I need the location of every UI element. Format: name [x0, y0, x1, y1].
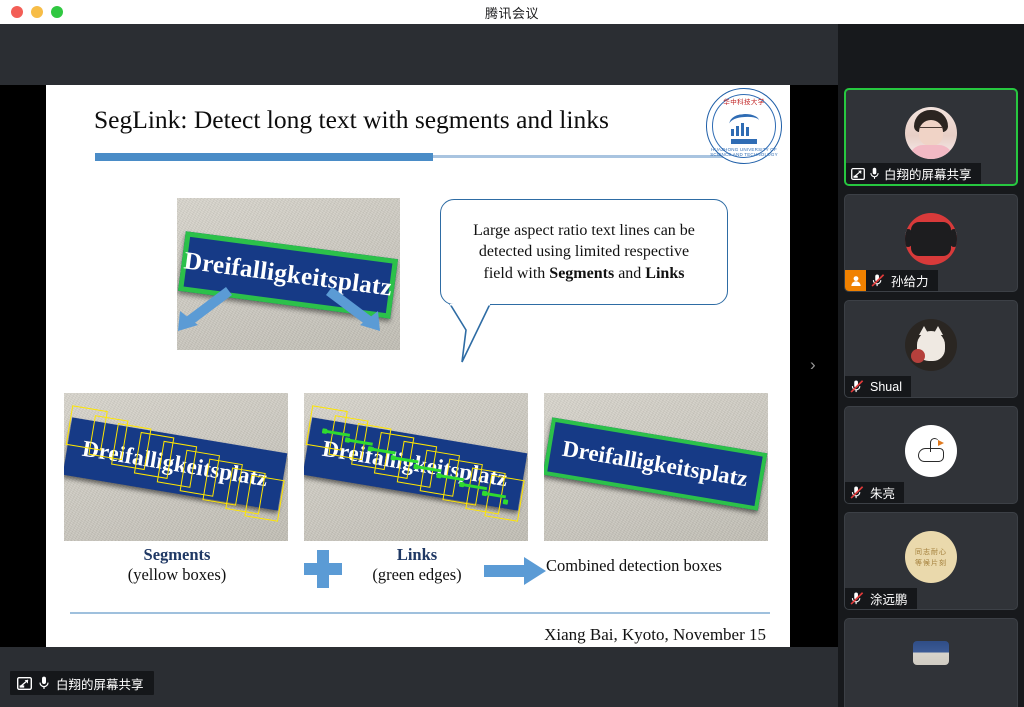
slide-footer-note: Xiang Bai, Kyoto, November 15: [544, 625, 766, 645]
street-sign-links: Dreifalligkeitsplatz: [304, 417, 527, 510]
participant-tile-2[interactable]: Shual: [844, 300, 1018, 398]
avatar: [905, 425, 957, 477]
footer-divider: [70, 612, 770, 614]
participant-name: 朱亮: [870, 483, 895, 502]
participant-tile-4[interactable]: 同志耐心等候片刻 涂远鹏: [844, 512, 1018, 610]
callout-line-3-mid: and: [614, 265, 645, 282]
participant-tile-0[interactable]: 白翔的屏幕共享: [844, 88, 1018, 186]
participant-name-bar: 涂远鹏: [845, 588, 917, 609]
logo-en-text: HUAZHONG UNIVERSITY OF SCIENCE AND TECHN…: [707, 147, 781, 157]
participant-name-bar: Shual: [845, 376, 911, 397]
arrow-down-right-icon: [324, 285, 384, 333]
callout-line-1: Large aspect ratio text lines can be: [473, 222, 695, 239]
participant-name-bar: 朱亮: [845, 482, 904, 503]
microphone-muted-icon: [871, 274, 886, 287]
label-segments-sub: (yellow boxes): [92, 565, 262, 585]
photo-segments: Dreifalligkeitsplatz: [64, 393, 288, 541]
participant-sidebar: › 白翔的屏幕共享: [838, 24, 1024, 707]
microphone-muted-icon: [850, 380, 865, 393]
label-combined: Combined detection boxes: [546, 556, 782, 576]
avatar: 同志耐心等候片刻: [905, 531, 957, 583]
label-links-title: Links: [332, 545, 502, 565]
callout-tail-icon: [444, 304, 554, 366]
callout-bold-segments: Segments: [549, 265, 614, 282]
callout-bold-links: Links: [645, 265, 684, 282]
hust-logo-icon: 华中科技大学 HUAZHONG UNIVERSITY OF SCIENCE AN…: [706, 88, 782, 164]
participant-name-bar: 孙给力: [845, 270, 938, 291]
photo-links: Dreifalligkeitsplatz: [304, 393, 528, 541]
avatar: [905, 107, 957, 159]
host-icon: [845, 270, 866, 291]
presentation-slide: SegLink: Detect long text with segments …: [46, 85, 790, 647]
street-sign-segments: Dreifalligkeitsplatz: [64, 417, 287, 510]
participant-tile-1[interactable]: 孙给力: [844, 194, 1018, 292]
label-segments-title: Segments: [92, 545, 262, 565]
callout-line-2: detected using limited respective: [479, 243, 689, 260]
callout-box: Large aspect ratio text lines can be det…: [440, 199, 728, 305]
screen-share-icon: [851, 168, 865, 180]
microphone-icon: [870, 167, 879, 180]
screen-share-status-badge: 白翔的屏幕共享: [10, 671, 154, 695]
stage-top-band: [0, 24, 838, 85]
slide-title: SegLink: Detect long text with segments …: [94, 105, 704, 135]
street-sign-combined: Dreifalligkeitsplatz: [544, 417, 767, 510]
participant-name: 白翔的屏幕共享: [884, 164, 972, 183]
microphone-muted-icon: [850, 486, 865, 499]
screen-share-icon: [17, 677, 32, 690]
label-segments: Segments (yellow boxes): [92, 545, 262, 585]
avatar: [905, 319, 957, 371]
participant-tile-5[interactable]: [844, 618, 1018, 707]
participant-name: 孙给力: [891, 271, 929, 290]
arrow-down-left-icon: [174, 285, 234, 333]
share-badge-label: 白翔的屏幕共享: [56, 674, 144, 693]
label-links-sub: (green edges): [332, 565, 502, 585]
participant-name: Shual: [870, 380, 902, 394]
microphone-muted-icon: [850, 592, 865, 605]
callout-line-3-pre: field with: [484, 265, 550, 282]
logo-emblem: [727, 113, 761, 139]
arrow-right-icon: [484, 557, 546, 585]
participant-name: 涂远鹏: [870, 589, 908, 608]
tencent-meeting-window: 腾讯会议 SegLink: Detect long text with segm…: [0, 0, 1024, 707]
participant-tile-3[interactable]: 朱亮: [844, 406, 1018, 504]
chevron-right-icon[interactable]: ›: [810, 356, 816, 373]
participant-name-bar: 白翔的屏幕共享: [846, 163, 981, 184]
avatar: [913, 641, 949, 665]
street-sign-text-combined: Dreifalligkeitsplatz: [560, 436, 749, 493]
photo-combined: Dreifalligkeitsplatz: [544, 393, 768, 541]
shared-screen-stage: SegLink: Detect long text with segments …: [0, 24, 838, 707]
window-titlebar: 腾讯会议: [0, 0, 1024, 24]
title-underline-accent: [95, 153, 433, 161]
label-links: Links (green edges): [332, 545, 502, 585]
logo-cn-text: 华中科技大学: [707, 96, 781, 106]
microphone-icon: [39, 676, 49, 690]
window-title: 腾讯会议: [0, 3, 1024, 22]
avatar: [905, 213, 957, 265]
